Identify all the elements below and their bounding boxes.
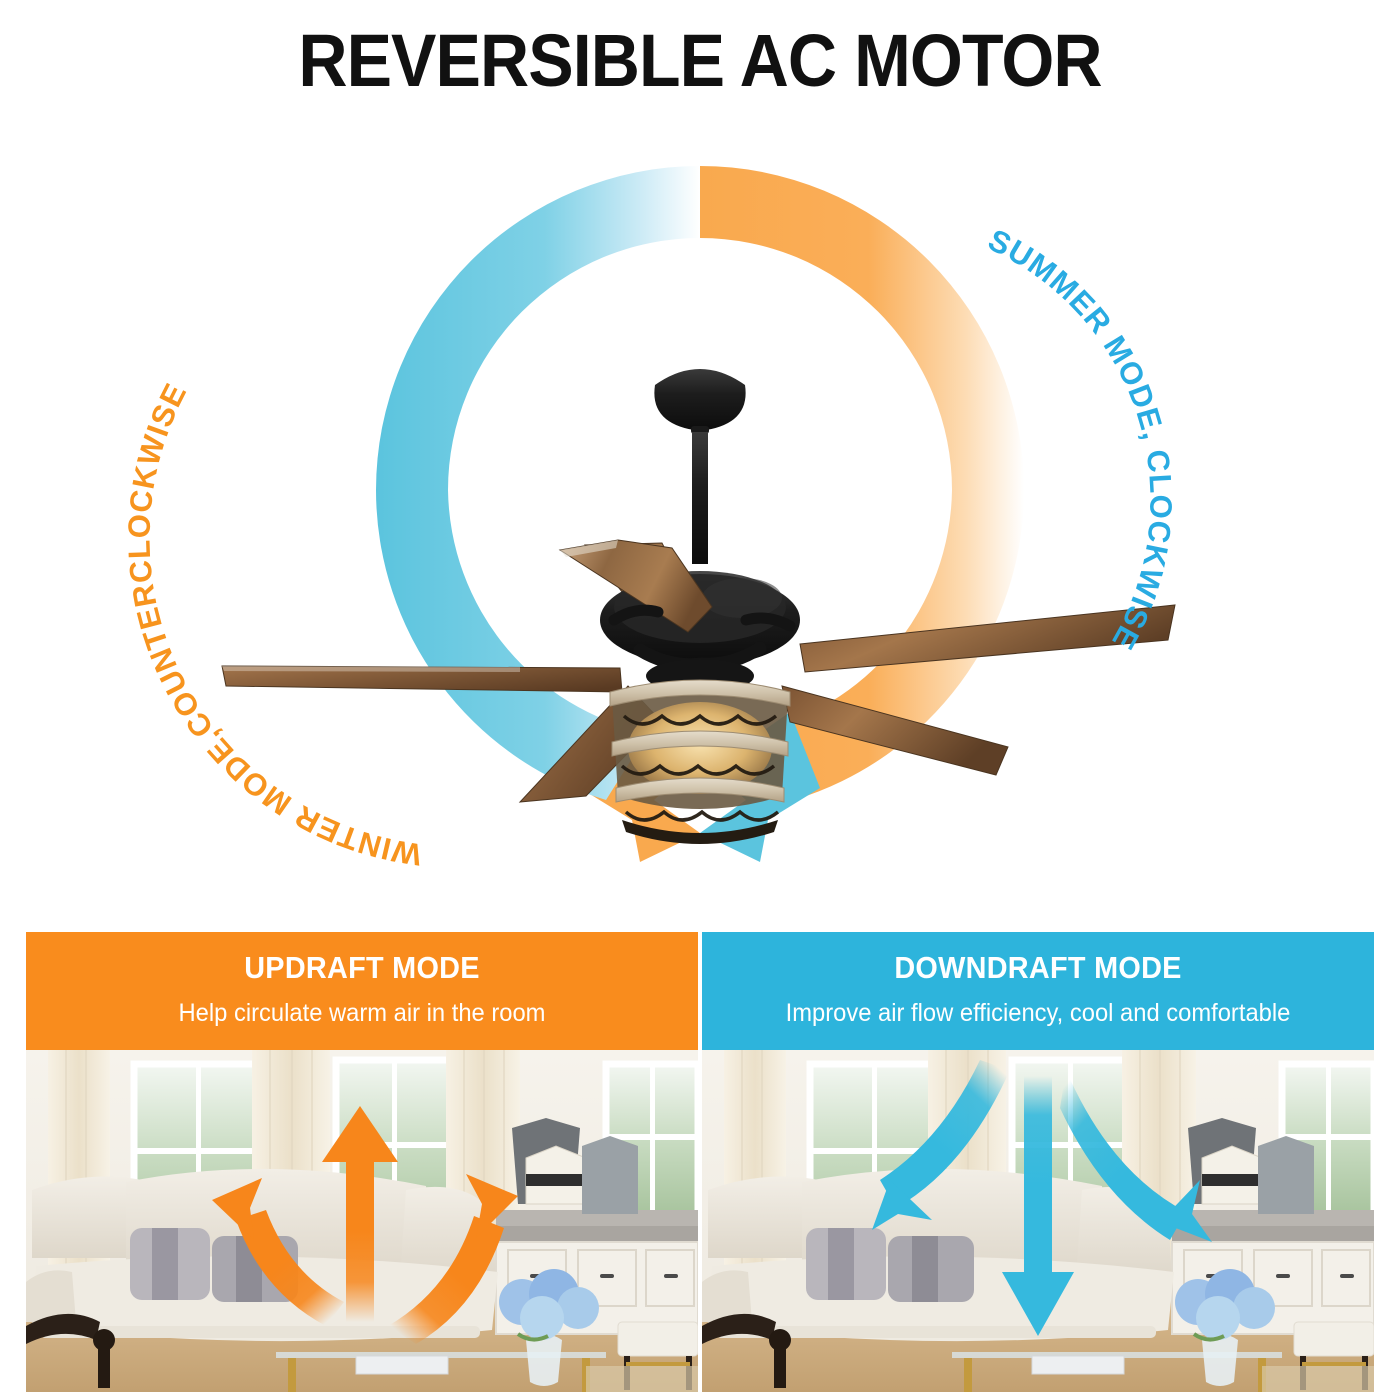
page-title: REVERSIBLE AC MOTOR	[56, 22, 1344, 100]
mode-panels: UPDRAFT MODE Help circulate warm air in …	[0, 932, 1400, 1394]
arrow-up-center	[322, 1106, 398, 1322]
panel-downdraft-title: DOWNDRAFT MODE	[726, 950, 1351, 986]
panel-downdraft-subtitle: Improve air flow efficiency, cool and co…	[719, 999, 1357, 1028]
arrow-up-right	[388, 1174, 518, 1344]
summer-mode-label: SUMMER MODE, CLOCKWISE	[983, 222, 1179, 656]
arrow-up-left	[212, 1178, 344, 1326]
downdraft-airflow-arrows	[702, 1050, 1374, 1392]
updraft-airflow-arrows	[26, 1050, 698, 1392]
panel-downdraft-photo	[702, 1050, 1374, 1392]
panel-downdraft: DOWNDRAFT MODE Improve air flow efficien…	[702, 932, 1374, 1392]
mode-labels: WINTER MODE,COUNTERCLOCKWISE SUMMER MODE…	[0, 120, 1400, 910]
panel-updraft: UPDRAFT MODE Help circulate warm air in …	[26, 932, 698, 1392]
panel-updraft-photo	[26, 1050, 698, 1392]
panel-downdraft-header: DOWNDRAFT MODE Improve air flow efficien…	[702, 932, 1374, 1050]
reversible-motor-diagram: WINTER MODE,COUNTERCLOCKWISE SUMMER MODE…	[0, 120, 1400, 910]
panel-updraft-header: UPDRAFT MODE Help circulate warm air in …	[26, 932, 698, 1050]
arrow-down-right	[1060, 1070, 1212, 1242]
arrow-down-center	[1002, 1076, 1074, 1336]
arrow-down-left	[872, 1060, 1010, 1230]
winter-mode-label: WINTER MODE,COUNTERCLOCKWISE	[121, 377, 424, 872]
infographic-root: REVERSIBLE AC MOTOR	[0, 0, 1400, 1400]
panel-updraft-title: UPDRAFT MODE	[50, 950, 675, 986]
panel-updraft-subtitle: Help circulate warm air in the room	[43, 999, 681, 1028]
